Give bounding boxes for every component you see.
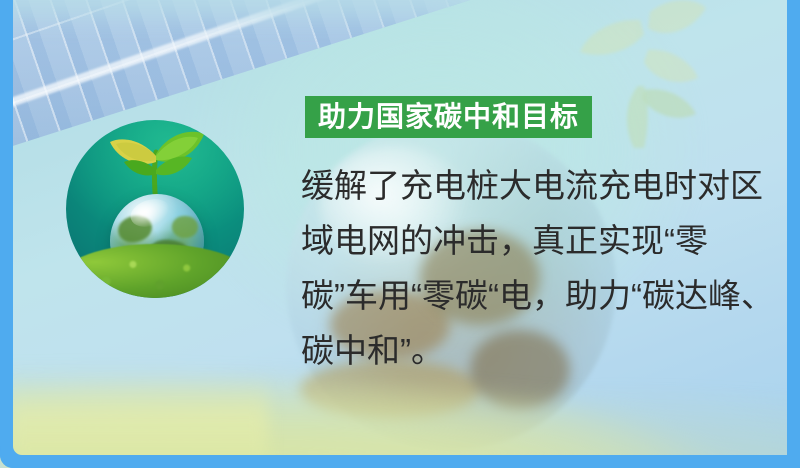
moss-texture <box>66 244 244 298</box>
frame-border-left <box>0 0 13 468</box>
body-paragraph: 缓解了充电桩大电流充电时对区域电网的冲击，真正实现“零碳”车用“零碳“电，助力“… <box>301 158 781 378</box>
frame-border-bottom <box>0 455 800 468</box>
poster-canvas: 助力国家碳中和目标 缓解了充电桩大电流充电时对区域电网的冲击，真正实现“零碳”车… <box>0 0 800 468</box>
heading-badge: 助力国家碳中和目标 <box>305 96 592 138</box>
frame-corner-bottom-left <box>0 424 44 468</box>
globe-landmass <box>172 216 198 238</box>
frame-border-right <box>787 0 800 468</box>
moss-ground <box>66 244 244 298</box>
globe-sprout-photo <box>66 120 244 298</box>
